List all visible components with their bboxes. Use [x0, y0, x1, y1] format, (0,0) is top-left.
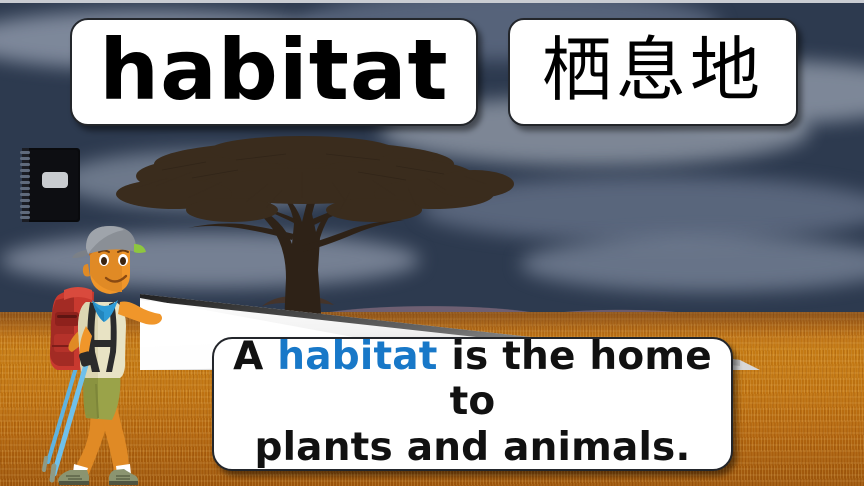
top-edge-strip — [0, 0, 864, 3]
vocabulary-word: habitat — [99, 28, 448, 112]
notebook-icon[interactable] — [18, 146, 82, 224]
sentence-line-1: A habitat is the home to — [230, 334, 715, 424]
translation-card[interactable]: 栖息地 — [508, 18, 798, 126]
translation-text: 栖息地 — [542, 35, 764, 105]
definition-sentence-card[interactable]: A habitat is the home to plants and anim… — [212, 337, 733, 471]
hiker-boy-illustration — [30, 226, 176, 486]
sentence-keyword: habitat — [277, 334, 437, 379]
hiking-boots — [58, 469, 138, 485]
sentence-text-before: A — [233, 334, 277, 379]
vocabulary-word-card[interactable]: habitat — [70, 18, 478, 126]
sentence-text-after: is the home to — [438, 334, 712, 424]
sentence-line-2: plants and animals. — [255, 425, 691, 470]
flashcard-slide: habitat 栖息地 A habitat is the home to pla… — [0, 0, 864, 486]
